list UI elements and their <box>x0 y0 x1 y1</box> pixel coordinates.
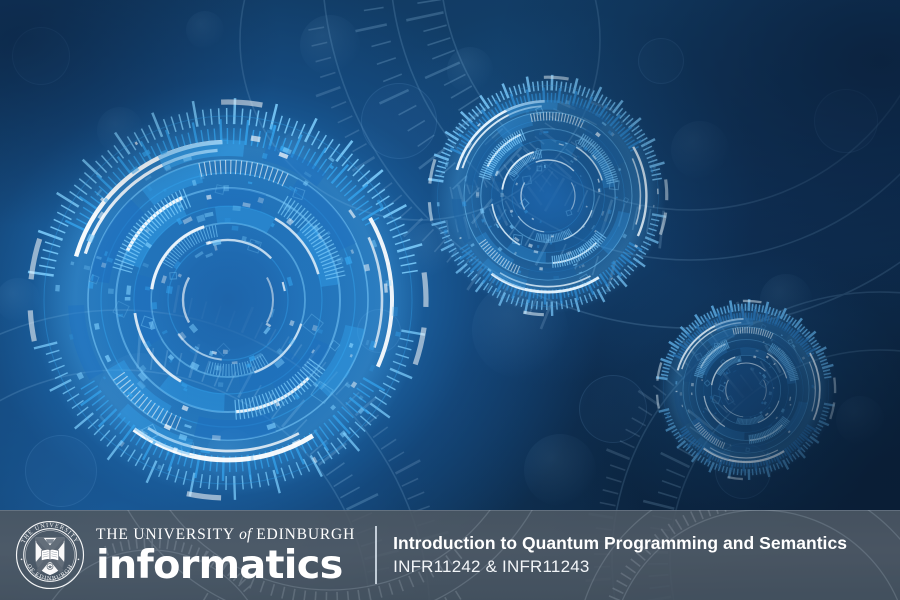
informatics-wordmark: THE UNIVERSITY of EDINBURGH informatics <box>96 525 355 585</box>
university-name-of: of <box>239 526 251 543</box>
footer-bar: THE UNIVERSITY OF EDINBURGH <box>0 510 900 600</box>
course-banner: THE UNIVERSITY OF EDINBURGH <box>0 0 900 600</box>
edinburgh-university-crest: THE UNIVERSITY OF EDINBURGH <box>14 519 86 591</box>
course-title: Introduction to Quantum Programming and … <box>393 532 900 554</box>
course-info: Introduction to Quantum Programming and … <box>393 532 900 577</box>
course-code: INFR11242 & INFR11243 <box>393 556 900 578</box>
university-name-line: THE UNIVERSITY of EDINBURGH <box>96 527 355 543</box>
informatics-label: informatics <box>96 546 360 585</box>
footer-divider <box>375 526 377 584</box>
university-name-pre: THE UNIVERSITY <box>96 526 239 543</box>
university-name-post: EDINBURGH <box>251 526 355 543</box>
